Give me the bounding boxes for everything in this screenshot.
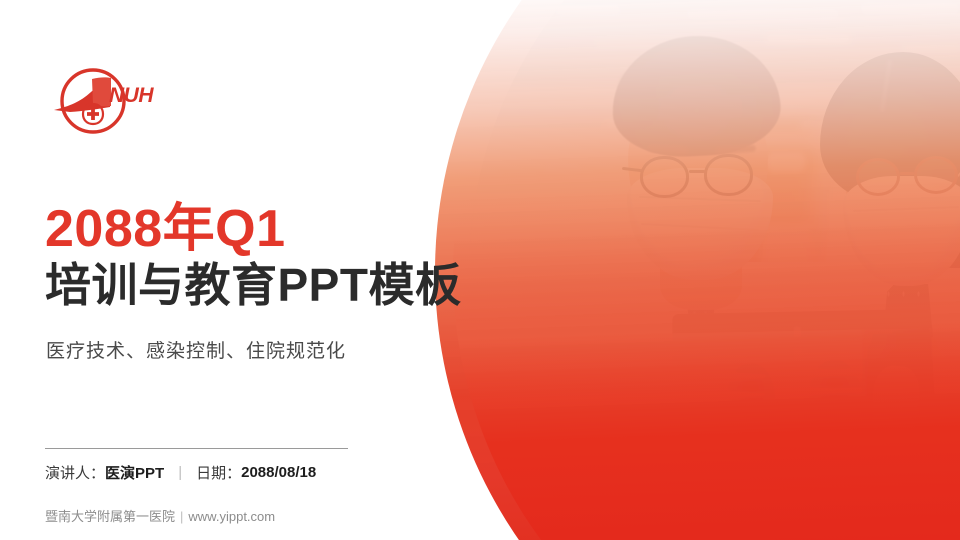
presentation-cover-slide: NUH 2088年Q1 培训与教育PPT模板 医疗技术、感染控制、住院规范化 演…: [0, 0, 960, 540]
divider-line: [45, 448, 348, 449]
footer-organization: 暨南大学附属第一医院: [45, 509, 175, 524]
presentation-meta: 演讲人：医演PPT|日期：2088/08/18: [45, 462, 316, 483]
speaker-value: 医演PPT: [105, 462, 164, 483]
page-title: 培训与教育PPT模板: [45, 262, 461, 308]
title-year: 2088年Q1: [45, 203, 286, 255]
hospital-logo[interactable]: NUH: [46, 62, 164, 140]
subtitle: 医疗技术、感染控制、住院规范化: [46, 336, 346, 363]
meta-separator: |: [164, 464, 196, 481]
slide-footer: 暨南大学附属第一医院|www.yippt.com: [45, 506, 275, 525]
speaker-label: 演讲人：: [45, 462, 105, 483]
footer-separator: |: [175, 509, 188, 524]
date-value: 2088/08/18: [241, 464, 316, 481]
date-label: 日期：: [196, 462, 241, 483]
footer-website[interactable]: www.yippt.com: [188, 509, 275, 524]
logo-letters: NUH: [109, 84, 154, 107]
